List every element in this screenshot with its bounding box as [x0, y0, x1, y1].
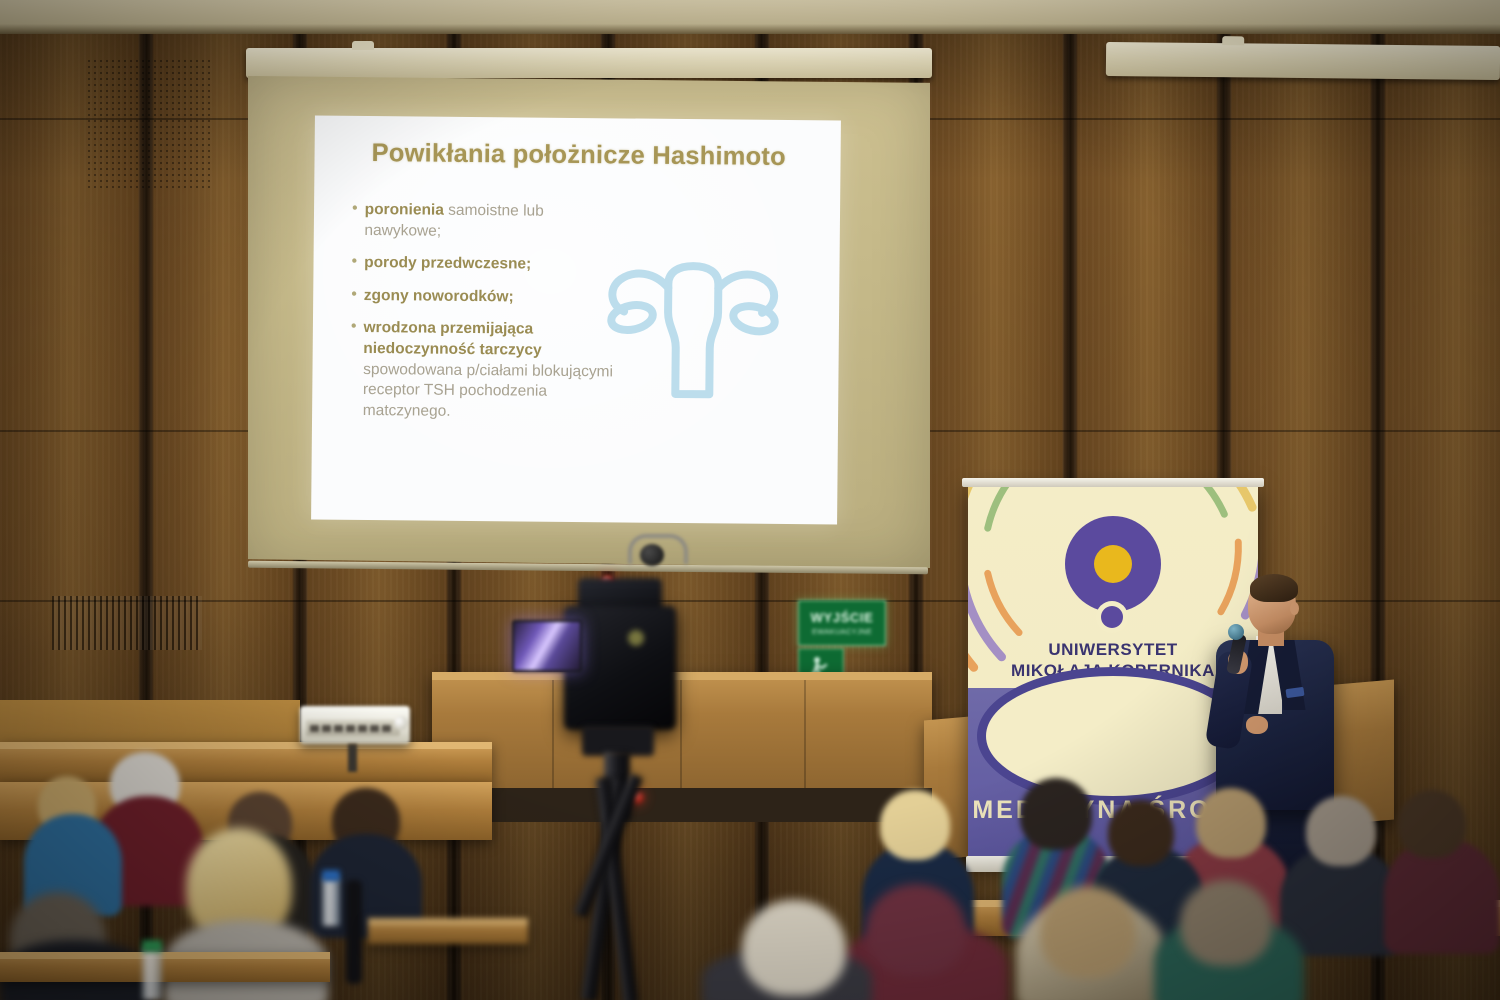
- lecture-hall-photo: Powikłania położnicze Hashimoto • poroni…: [0, 0, 1500, 1000]
- camera-shotgun-mic-icon: [640, 544, 664, 566]
- projector-stand: [348, 744, 357, 772]
- slide-title: Powikłania położnicze Hashimoto: [371, 139, 840, 173]
- list-item: • porody przedwczesne;: [351, 253, 621, 276]
- camera-lcd-screen[interactable]: [512, 620, 582, 672]
- list-item: • poronienia samoistne lub nawykowe;: [352, 200, 622, 244]
- audience-head: [880, 790, 950, 860]
- stage-shadow-band: [432, 788, 932, 822]
- audience-head: [1180, 880, 1272, 966]
- list-item: • wrodzona przemijająca niedoczynność ta…: [350, 318, 621, 424]
- slide-bullet-list: • poronienia samoistne lub nawykowe; • p…: [350, 200, 622, 436]
- bullet-dot: •: [352, 200, 358, 241]
- microphone-capsule: [1228, 624, 1244, 640]
- chair-back-post: [346, 880, 362, 984]
- bullet-strong: wrodzona przemijająca niedoczynność tarc…: [363, 319, 541, 358]
- exit-sign-line-2: EWAKUACYJNE: [812, 627, 872, 636]
- exit-sign-line-1: WYJŚCIE: [811, 610, 874, 625]
- speaker-hand-lower: [1246, 716, 1268, 734]
- podium-front-panel: [432, 672, 932, 792]
- banner-top-rail: [962, 478, 1264, 487]
- bullet-strong: zgony noworodków;: [364, 287, 514, 305]
- audience-head: [742, 900, 846, 996]
- lecture-desk-row: [0, 952, 330, 982]
- bottle-cap: [142, 940, 162, 952]
- acoustic-panel: [86, 58, 211, 188]
- projection-screen-case[interactable]: [246, 48, 932, 78]
- radiator-grille: [52, 596, 202, 650]
- camera-indicator-led: [628, 630, 644, 646]
- retracted-projection-screen-case[interactable]: [1106, 42, 1500, 80]
- lecture-desk-row: [368, 918, 528, 944]
- logo-core: [1094, 545, 1132, 583]
- ceiling: [0, 0, 1500, 34]
- banner-arc-divider: [986, 676, 1240, 796]
- list-item: • zgony noworodków;: [351, 286, 621, 309]
- audience-head: [1306, 796, 1376, 866]
- water-bottle[interactable]: [322, 878, 340, 926]
- water-bottle[interactable]: [142, 948, 162, 1000]
- audience-head: [1108, 800, 1174, 866]
- speaker-hair: [1250, 574, 1298, 602]
- bullet-rest: spowodowana p/ciałami blokującymi recept…: [363, 361, 613, 420]
- bottle-cap: [322, 870, 340, 881]
- bullet-dot: •: [351, 286, 357, 307]
- logo-satellite-dot: [1101, 606, 1123, 628]
- bullet-strong: porody przedwczesne;: [364, 254, 531, 273]
- banner-title-line-1: UNIWERSYTET: [968, 640, 1258, 660]
- audience-head: [866, 884, 966, 976]
- presentation-slide: Powikłania położnicze Hashimoto • poroni…: [311, 115, 841, 524]
- bullet-dot: •: [350, 318, 357, 421]
- audience-head: [1196, 788, 1266, 858]
- audience-head: [1040, 886, 1136, 978]
- bullet-dot: •: [351, 253, 357, 274]
- bullet-strong: poronienia: [365, 201, 444, 219]
- audience-head: [1020, 778, 1092, 850]
- uterus-icon: [597, 253, 788, 410]
- audience-head: [1398, 790, 1466, 858]
- speaker-ear: [1290, 602, 1299, 615]
- emergency-exit-sign: WYJŚCIE EWAKUACYJNE: [798, 600, 886, 646]
- projector[interactable]: [300, 706, 410, 744]
